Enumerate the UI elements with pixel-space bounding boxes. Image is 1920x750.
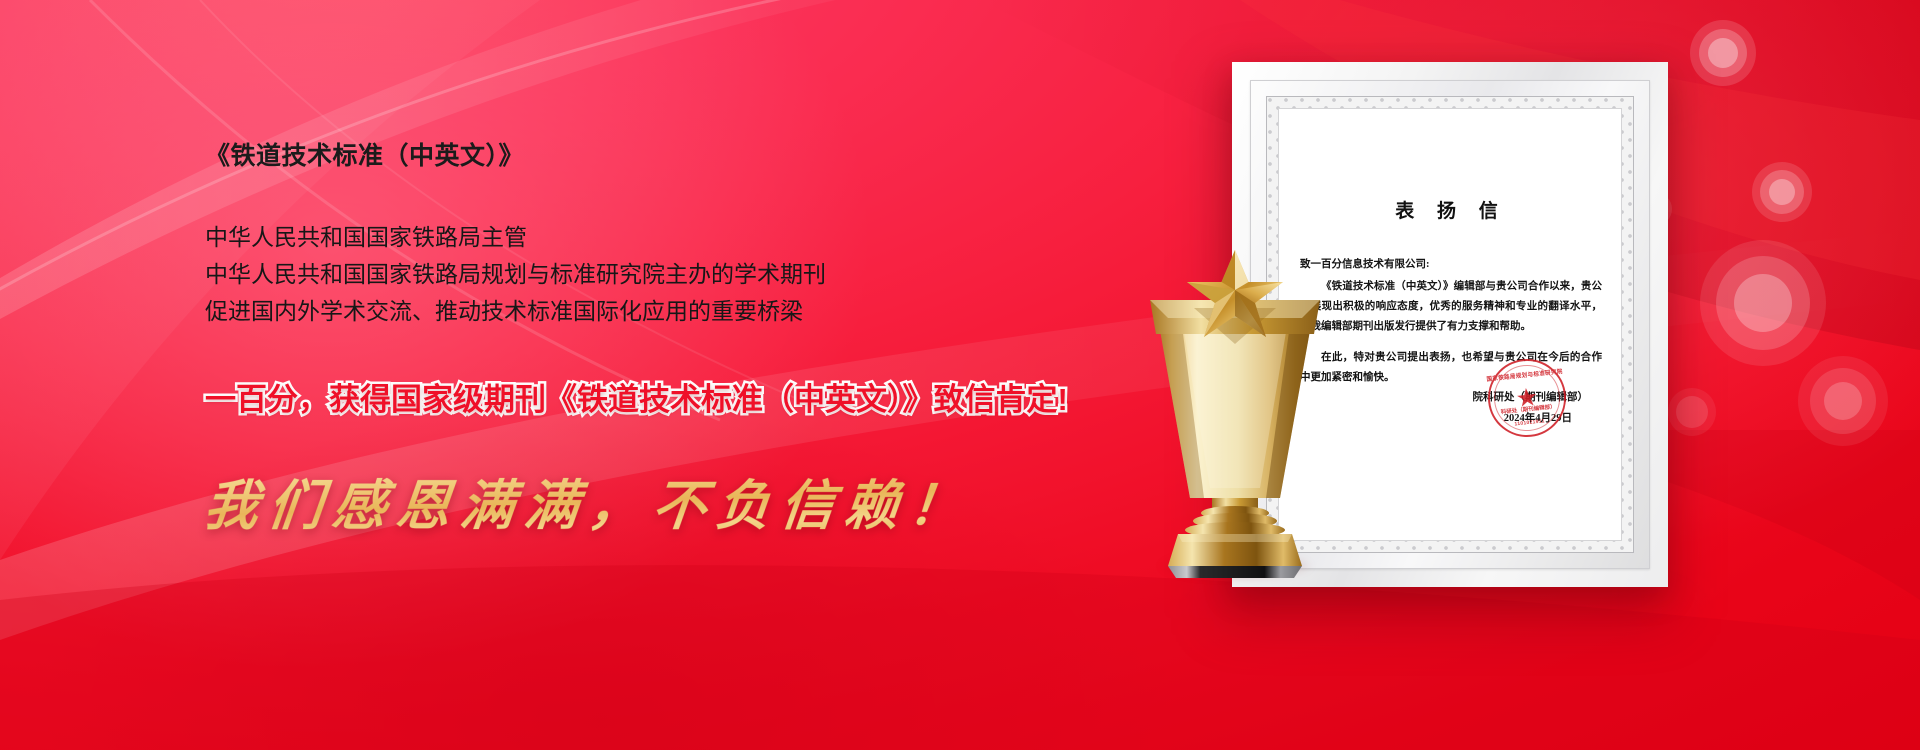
journal-description-line: 促进国内外学术交流、推动技术标准国际化应用的重要桥梁 [205, 293, 1205, 330]
bokeh-ring-2 [1752, 162, 1812, 222]
journal-title: 《铁道技术标准（中英文）》 [205, 140, 1205, 173]
promo-banner: 《铁道技术标准（中英文）》 中华人民共和国国家铁路局主管 中华人民共和国国家铁路… [0, 0, 1920, 750]
trophy-award-icon [1120, 248, 1350, 578]
journal-description-line: 中华人民共和国国家铁路局规划与标准研究院主办的学术期刊 [205, 256, 1205, 293]
bokeh-ring-1 [1690, 20, 1756, 86]
seal-star-icon: ★ [1515, 384, 1540, 411]
bokeh-ring-3 [1700, 240, 1826, 366]
banner-copy-block: 《铁道技术标准（中英文）》 中华人民共和国国家铁路局主管 中华人民共和国国家铁路… [205, 140, 1205, 540]
journal-description-line: 中华人民共和国国家铁路局主管 [205, 219, 1205, 256]
certificate-heading: 表 扬 信 [1300, 196, 1602, 223]
seal-sub-text: 科研处（期刊编辑部） [1500, 402, 1556, 416]
bokeh-ring-6 [1668, 388, 1716, 436]
seal-number-text: 1101021911 [1514, 418, 1545, 427]
journal-description-list: 中华人民共和国国家铁路局主管 中华人民共和国国家铁路局规划与标准研究院主办的学术… [205, 219, 1205, 330]
bokeh-ring-5 [1798, 356, 1888, 446]
gratitude-calligraphy: 我们感恩满满，不负信赖！ [201, 461, 1209, 540]
award-headline: 一百分，获得国家级期刊《铁道技术标准（中英文）》致信肯定! [205, 374, 1205, 419]
